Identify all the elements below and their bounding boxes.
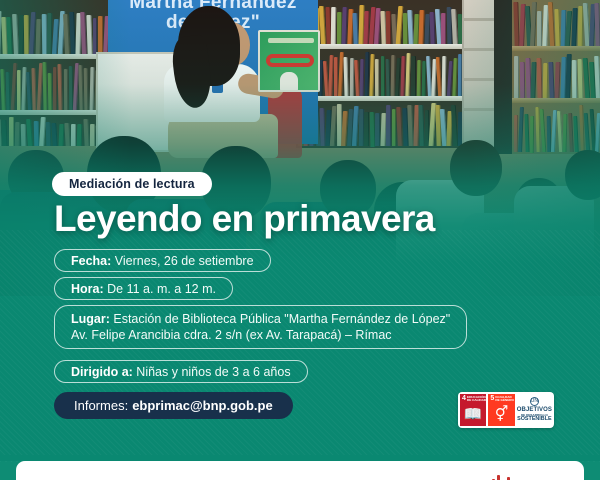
contact-email[interactable]: ebprimac@bnp.gob.pe [132,398,273,413]
detail-hora-label: Hora: [71,281,104,297]
footer-logo-icon [492,474,510,480]
un-sdg-line-3: SOSTENIBLE [517,417,551,423]
event-poster: Martha Fernández de López" Mediación [0,0,600,480]
sdg-goal-4-label: EDUCACIÓN DE CALIDAD [467,396,487,403]
sdg-goal-4-number: 4 [462,395,466,402]
poster-content: Mediación de lectura Leyendo en primaver… [0,0,600,480]
un-emblem-icon: UN [530,397,539,406]
detail-hora: Hora: De 11 a. m. a 12 m. [54,277,233,300]
sdg-goal-4: 4 EDUCACIÓN DE CALIDAD 📖 [460,394,486,426]
contact-label: Informes: [74,398,128,413]
detail-lugar-value-2: Av. Felipe Arancibia cdra. 2 s/n (ex Av.… [71,327,450,343]
detail-fecha: Fecha: Viernes, 26 de setiembre [54,249,271,272]
detail-dirigido-value: Niñas y niños de 3 a 6 años [136,364,290,380]
gender-equality-icon: ⚥ [495,407,509,422]
category-tag: Mediación de lectura [52,172,212,196]
open-book-icon: 📖 [464,407,483,422]
page-title: Leyendo en primavera [54,198,574,240]
detail-lugar: Lugar: Estación de Biblioteca Pública "M… [54,305,467,349]
un-sdg-logo: UN OBJETIVOS DE DESARROLLO SOSTENIBLE [517,394,552,426]
sdg-goal-5-number: 5 [490,395,494,402]
detail-lugar-value: Estación de Biblioteca Pública "Martha F… [113,312,450,326]
detail-fecha-label: Fecha: [71,253,111,269]
detail-lugar-label: Lugar: [71,312,110,326]
detail-fecha-value: Viernes, 26 de setiembre [115,253,254,269]
sdg-goal-5: 5 IGUALDAD DE GÉNERO ⚥ [488,394,514,426]
sdg-badge: 4 EDUCACIÓN DE CALIDAD 📖 5 IGUALDAD DE G… [458,392,554,428]
detail-dirigido-a: Dirigido a: Niñas y niños de 3 a 6 años [54,360,308,383]
sdg-goal-5-label: IGUALDAD DE GÉNERO [495,396,515,403]
detail-dirigido-label: Dirigido a: [71,364,133,380]
detail-hora-value: De 11 a. m. a 12 m. [107,281,216,297]
contact-pill[interactable]: Informes: ebprimac@bnp.gob.pe [54,392,293,419]
